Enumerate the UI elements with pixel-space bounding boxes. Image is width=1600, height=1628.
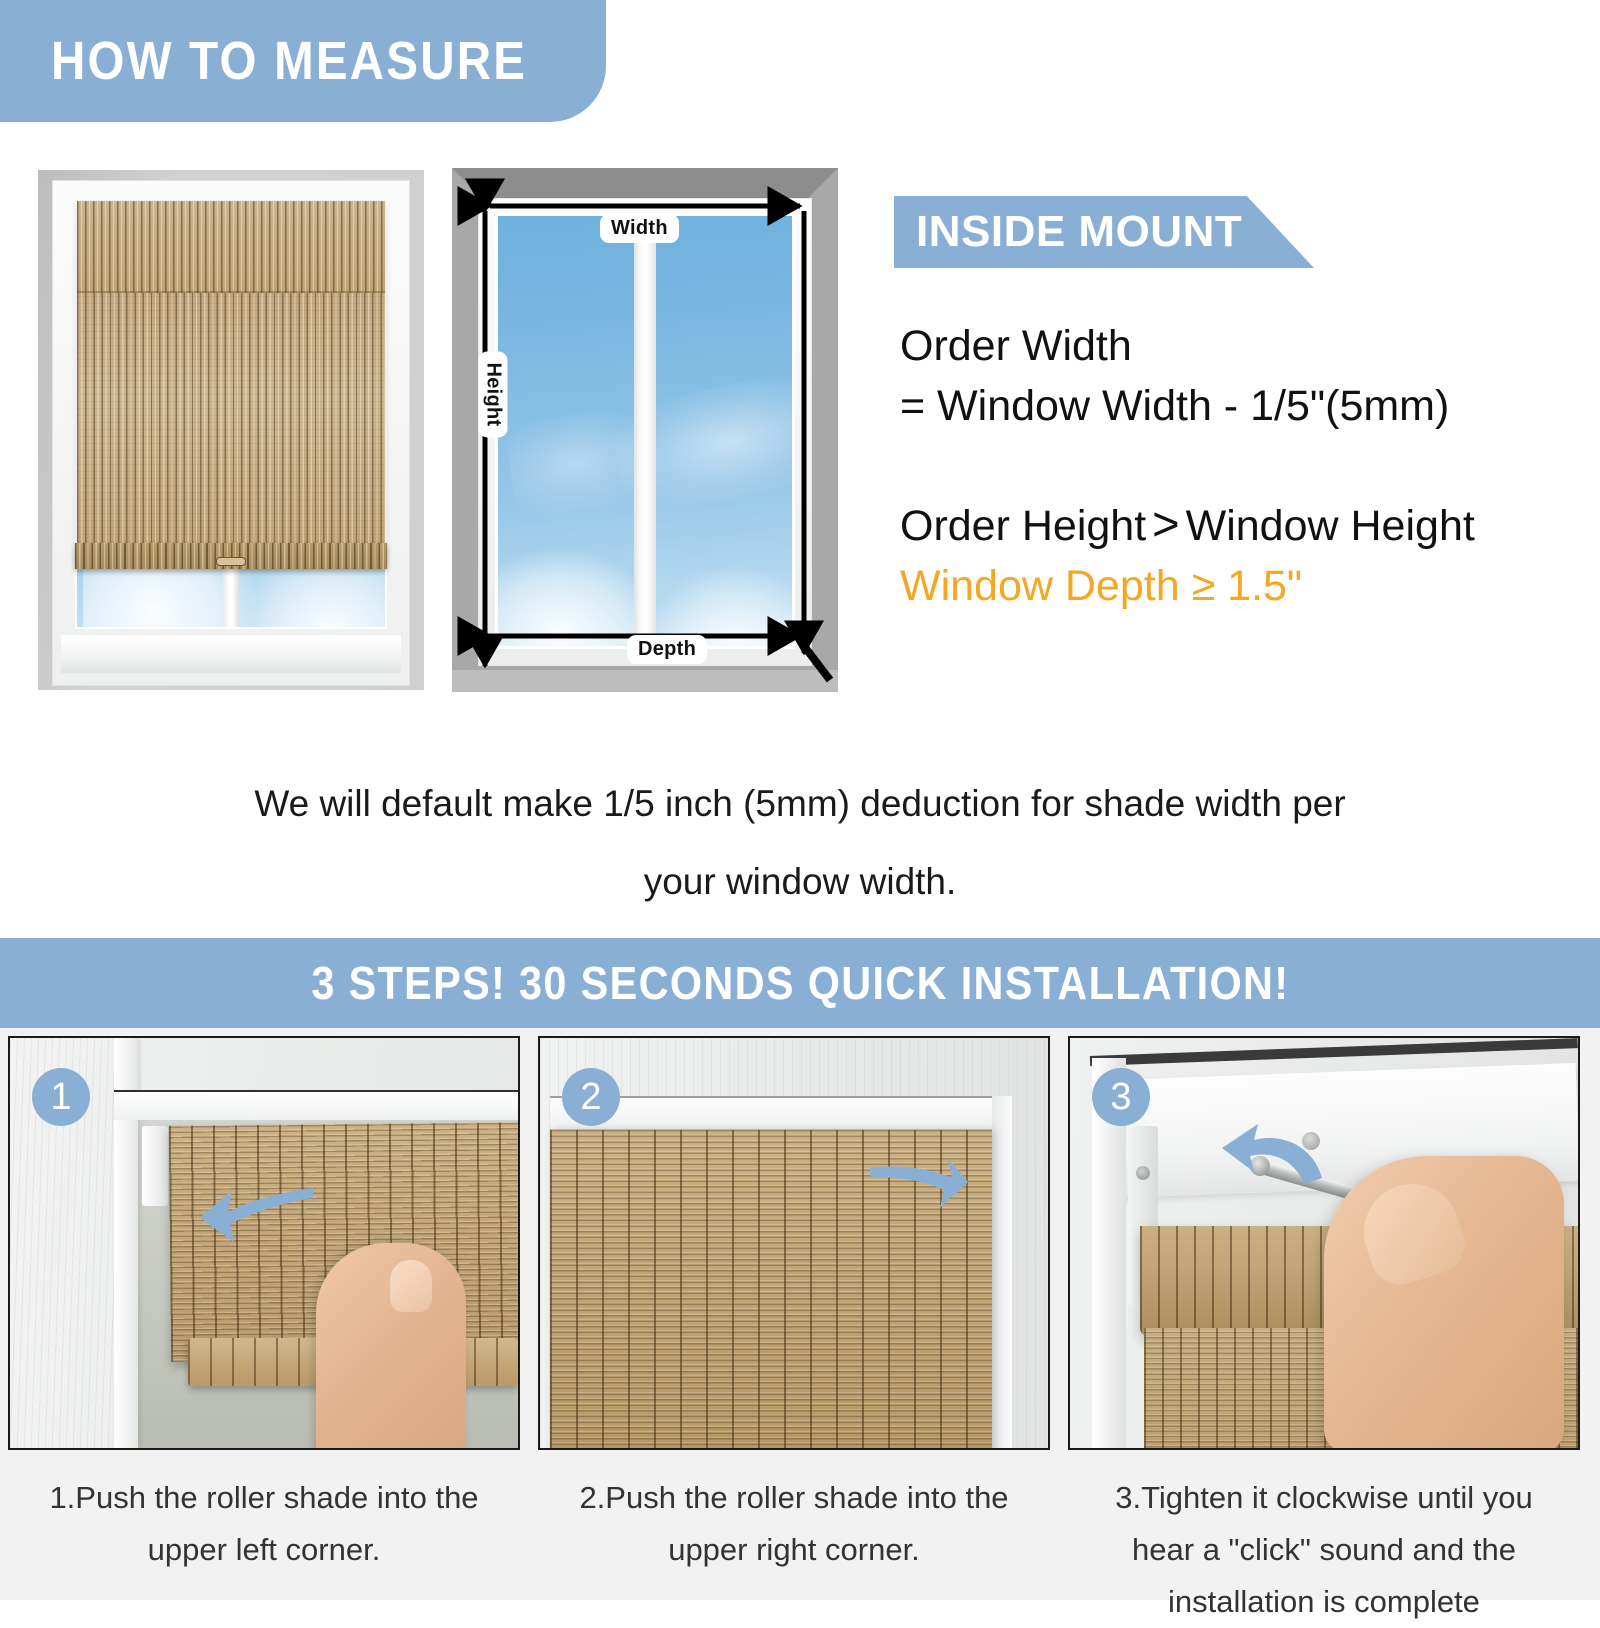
formula-prefix: = Window Width -	[900, 382, 1250, 430]
installation-step-3: 3 3.Tighten it clockwise until you hear …	[1068, 1036, 1580, 1628]
default-deduction-note: We will default make 1/5 inch (5mm) dedu…	[100, 765, 1500, 921]
step-badge-2: 2	[562, 1068, 620, 1126]
label-depth: Depth	[627, 635, 707, 664]
order-height-right: Window Height	[1186, 502, 1475, 550]
note-line-1: We will default make 1/5 inch (5mm) dedu…	[100, 765, 1500, 843]
inside-mount-text-block: Order Width = Window Width - 1/5"(5mm) O…	[900, 316, 1580, 616]
shade-bottom-rail	[75, 543, 387, 569]
how-to-measure-section: HOW TO MEASURE	[0, 0, 1600, 920]
shade-valance	[77, 201, 385, 293]
step-2-photo: 2	[538, 1036, 1050, 1450]
steps-banner-title: 3 STEPS! 30 SECONDS QUICK INSTALLATION!	[311, 956, 1289, 1010]
thumb	[390, 1260, 432, 1312]
window-frame	[52, 180, 410, 686]
order-height-left: Order Height	[900, 502, 1146, 550]
installation-step-2: 2 2.Push the roller shade into the upper…	[538, 1036, 1050, 1576]
step-1-photo: 1	[8, 1036, 520, 1450]
shade-pull-tab	[216, 557, 246, 566]
page-title: HOW TO MEASURE	[0, 30, 527, 92]
order-width-formula: = Window Width - 1/5"(5mm)	[900, 376, 1580, 436]
mounting-bracket	[142, 1126, 168, 1206]
installed-shade-photo	[38, 170, 424, 690]
window-sill	[61, 635, 401, 673]
step-badge-1: 1	[32, 1068, 90, 1126]
window-head-rail	[114, 1090, 518, 1120]
formula-value: 1/5"(5mm)	[1250, 382, 1449, 430]
inside-mount-banner: INSIDE MOUNT	[894, 196, 1314, 268]
installation-step-1: 1 1.Push the roller shade into the upper…	[8, 1036, 520, 1576]
step-1-caption: 1.Push the roller shade into the upper l…	[8, 1472, 520, 1576]
steps-banner: 3 STEPS! 30 SECONDS QUICK INSTALLATION!	[0, 938, 1600, 1028]
arrow-right-icon	[866, 1150, 970, 1216]
label-height: Height	[479, 351, 508, 437]
step-2-caption: 2.Push the roller shade into the upper r…	[538, 1472, 1050, 1576]
measurement-arrows	[452, 168, 838, 692]
label-width: Width	[600, 214, 679, 243]
spacer	[900, 436, 1580, 494]
order-width-line: Order Width	[900, 316, 1580, 376]
step-3-photo: 3	[1068, 1036, 1580, 1450]
note-line-2: your window width.	[100, 843, 1500, 921]
window-measurement-diagram: Width Height Depth	[452, 168, 838, 692]
bamboo-roller-shade	[77, 201, 385, 563]
step-3-caption: 3.Tighten it clockwise until you hear a …	[1068, 1472, 1580, 1628]
arrow-left-icon	[198, 1178, 318, 1252]
step-badge-3: 3	[1092, 1068, 1150, 1126]
order-height-rule: Order Height>Window Height	[900, 494, 1580, 556]
depth-arrow	[804, 646, 830, 680]
bracket-screw-icon	[1136, 1166, 1150, 1180]
installation-steps-section: 1 1.Push the roller shade into the upper…	[0, 1028, 1600, 1600]
window-jamb	[990, 1096, 1012, 1448]
inside-mount-title: INSIDE MOUNT	[894, 207, 1242, 257]
window-depth-requirement: Window Depth ≥ 1.5"	[900, 556, 1580, 616]
greater-than-icon: >	[1146, 497, 1185, 550]
how-to-measure-banner: HOW TO MEASURE	[0, 0, 606, 122]
arrow-rotate-counterclockwise-icon	[1218, 1122, 1328, 1208]
